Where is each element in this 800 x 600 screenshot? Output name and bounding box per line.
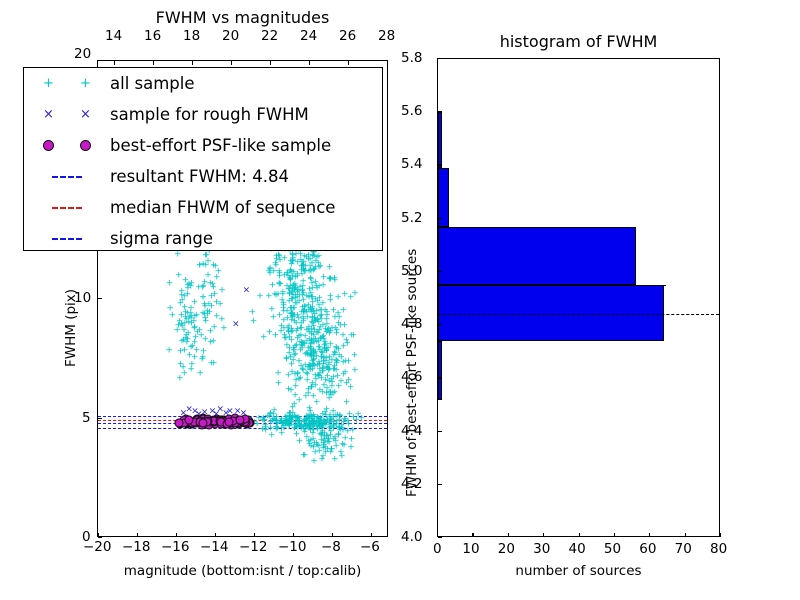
histogram-x-tick-label: 80 [710, 541, 727, 557]
scatter-point-all-sample: + [302, 370, 310, 379]
scatter-point-all-sample: + [188, 279, 196, 288]
scatter-point-all-sample: + [339, 331, 347, 340]
scatter-point-all-sample: + [306, 263, 314, 272]
scatter-point-all-sample: + [308, 308, 316, 317]
scatter-point-all-sample: + [296, 338, 304, 347]
scatter-point-all-sample: + [290, 346, 298, 355]
scatter-point-all-sample: + [298, 339, 306, 348]
scatter-point-all-sample: + [295, 397, 303, 406]
scatter-point-all-sample: + [300, 297, 308, 306]
scatter-point-all-sample: + [307, 384, 315, 393]
scatter-point-all-sample: + [308, 294, 316, 303]
scatter-point-all-sample: + [305, 324, 313, 333]
scatter-point-all-sample: + [292, 295, 300, 304]
scatter-point-all-sample: + [188, 320, 196, 329]
scatter-point-all-sample: + [308, 279, 316, 288]
scatter-point-all-sample: + [298, 345, 306, 354]
histogram-x-tick [472, 533, 473, 537]
scatter-point-all-sample: + [199, 294, 207, 303]
scatter-point-all-sample: + [308, 259, 316, 268]
scatter-point-all-sample: + [318, 375, 326, 384]
scatter-point-all-sample: + [307, 352, 315, 361]
scatter-point-all-sample: + [298, 266, 306, 275]
scatter-point-all-sample: + [309, 436, 317, 445]
scatter-point-all-sample: + [278, 297, 286, 306]
scatter-point-all-sample: + [319, 281, 327, 290]
sigma-lower-line [98, 428, 387, 429]
scatter-point-all-sample: + [289, 403, 297, 412]
scatter-point-all-sample: + [300, 259, 308, 268]
scatter-point-all-sample: + [333, 329, 341, 338]
scatter-point-all-sample: + [291, 311, 299, 320]
scatter-point-all-sample: + [299, 304, 307, 313]
histogram-y-tick [438, 271, 442, 272]
scatter-point-all-sample: + [332, 356, 340, 365]
scatter-point-all-sample: + [301, 350, 309, 359]
scatter-point-all-sample: + [295, 413, 303, 422]
scatter-point-all-sample: + [307, 340, 315, 349]
scatter-point-all-sample: + [308, 345, 316, 354]
scatter-point-all-sample: + [325, 394, 333, 403]
histogram-y-tick [438, 111, 442, 112]
scatter-point-all-sample: + [332, 443, 340, 452]
scatter-point-all-sample: + [178, 287, 186, 296]
scatter-point-all-sample: + [316, 369, 324, 378]
scatter-point-all-sample: + [316, 307, 324, 316]
scatter-point-all-sample: + [331, 388, 339, 397]
scatter-point-all-sample: + [316, 431, 324, 440]
scatter-point-all-sample: + [306, 336, 314, 345]
scatter-point-all-sample: + [309, 413, 317, 422]
dashed-red-line-icon [52, 207, 82, 209]
scatter-point-all-sample: + [294, 334, 302, 343]
scatter-point-all-sample: + [344, 339, 352, 348]
scatter-point-all-sample: + [288, 305, 296, 314]
scatter-point-all-sample: + [316, 346, 324, 355]
scatter-point-all-sample: + [318, 422, 326, 431]
scatter-point-all-sample: + [294, 286, 302, 295]
scatter-point-all-sample: + [316, 387, 324, 396]
scatter-point-all-sample: + [307, 307, 315, 316]
scatter-point-all-sample: + [310, 457, 318, 466]
scatter-point-all-sample: + [310, 332, 318, 341]
scatter-point-all-sample: + [185, 313, 193, 322]
scatter-point-all-sample: + [332, 437, 340, 446]
scatter-point-all-sample: + [289, 292, 297, 301]
scatter-point-all-sample: + [310, 346, 318, 355]
scatter-point-all-sample: + [320, 335, 328, 344]
legend-label: sample for rough FWHM [110, 105, 309, 124]
scatter-point-all-sample: + [288, 361, 296, 370]
scatter-point-all-sample: + [332, 324, 340, 333]
dashdot-blue-line-icon [52, 238, 82, 240]
scatter-point-all-sample: + [220, 324, 228, 333]
scatter-point-all-sample: + [319, 334, 327, 343]
scatter-point-all-sample: + [307, 363, 315, 372]
scatter-point-all-sample: + [340, 371, 348, 380]
scatter-point-all-sample: + [310, 443, 318, 452]
scatter-point-all-sample: + [310, 339, 318, 348]
scatter-point-all-sample: + [199, 293, 207, 302]
scatter-point-all-sample: + [290, 282, 298, 291]
scatter-point-all-sample: + [289, 312, 297, 321]
scatter-point-all-sample: + [295, 357, 303, 366]
scatter-point-all-sample: + [297, 363, 305, 372]
scatter-point-all-sample: + [327, 388, 335, 397]
scatter-point-all-sample: + [204, 257, 212, 266]
scatter-point-all-sample: + [340, 342, 348, 351]
scatter-point-all-sample: + [272, 259, 280, 268]
scatter-point-all-sample: + [311, 349, 319, 358]
scatter-point-all-sample: + [269, 281, 277, 290]
scatter-point-all-sample: + [291, 371, 299, 380]
scatter-point-all-sample: + [177, 360, 185, 369]
scatter-point-all-sample: + [318, 349, 326, 358]
scatter-point-all-sample: + [285, 371, 293, 380]
scatter-point-all-sample: + [306, 348, 314, 357]
scatter-point-all-sample: + [331, 362, 339, 371]
scatter-point-all-sample: + [320, 358, 328, 367]
scatter-point-all-sample: + [199, 310, 207, 319]
scatter-point-all-sample: + [187, 309, 195, 318]
scatter-point-all-sample: + [323, 321, 331, 330]
scatter-point-all-sample: + [285, 286, 293, 295]
scatter-point-all-sample: + [256, 292, 264, 301]
scatter-point-all-sample: + [276, 312, 284, 321]
scatter-point-all-sample: + [298, 270, 306, 279]
scatter-point-all-sample: + [306, 423, 314, 432]
histogram-x-tick [579, 533, 580, 537]
scatter-point-all-sample: + [292, 291, 300, 300]
scatter-point-all-sample: + [208, 292, 216, 301]
scatter-point-all-sample: + [261, 416, 269, 425]
scatter-point-all-sample: + [305, 325, 313, 334]
scatter-point-all-sample: + [315, 319, 323, 328]
scatter-point-all-sample: + [205, 300, 213, 309]
scatter-point-all-sample: + [318, 354, 326, 363]
scatter-point-all-sample: + [283, 342, 291, 351]
scatter-point-all-sample: + [300, 426, 308, 435]
scatter-point-all-sample: + [191, 299, 199, 308]
scatter-point-all-sample: + [323, 348, 331, 357]
scatter-point-all-sample: + [339, 359, 347, 368]
scatter-point-all-sample: + [316, 343, 324, 352]
scatter-point-all-sample: + [291, 318, 299, 327]
scatter-point-all-sample: + [287, 386, 295, 395]
scatter-point-all-sample: + [287, 282, 295, 291]
scatter-point-all-sample: + [301, 308, 309, 317]
scatter-point-all-sample: + [300, 308, 308, 317]
scatter-point-all-sample: + [314, 329, 322, 338]
scatter-point-all-sample: + [348, 435, 356, 444]
scatter-point-all-sample: + [323, 417, 331, 426]
scatter-point-all-sample: + [325, 438, 333, 447]
scatter-point-all-sample: + [347, 383, 355, 392]
scatter-point-all-sample: + [319, 365, 327, 374]
scatter-point-all-sample: + [294, 271, 302, 280]
scatter-point-all-sample: + [185, 281, 193, 290]
scatter-point-all-sample: + [329, 390, 337, 399]
legend-marker-sigma-range [24, 238, 110, 240]
scatter-point-all-sample: + [323, 315, 331, 324]
scatter-point-all-sample: + [200, 347, 208, 356]
scatter-point-all-sample: + [331, 276, 339, 285]
scatter-point-psf-like [185, 415, 194, 424]
scatter-point-all-sample: + [193, 312, 201, 321]
scatter-point-all-sample: + [207, 360, 215, 369]
scatter-point-all-sample: + [330, 307, 338, 316]
bottom-tick-label: −14 [200, 539, 229, 555]
top-tick-label: 26 [339, 28, 356, 44]
histogram-y-tick [438, 377, 442, 378]
legend-item[interactable]: resultant FWHM: 4.84 [24, 161, 382, 192]
scatter-point-all-sample: + [200, 282, 208, 291]
scatter-point-all-sample: + [337, 448, 345, 457]
scatter-point-all-sample: + [313, 254, 321, 263]
right-panel-title: histogram of FWHM [437, 32, 720, 51]
scatter-point-all-sample: + [294, 371, 302, 380]
scatter-point-all-sample: + [323, 364, 331, 373]
scatter-point-all-sample: + [331, 456, 339, 465]
scatter-point-all-sample: + [309, 420, 317, 429]
scatter-point-all-sample: + [333, 326, 341, 335]
scatter-point-all-sample: + [332, 367, 340, 376]
bottom-tick-label: −16 [161, 539, 190, 555]
scatter-point-all-sample: + [335, 431, 343, 440]
left-panel-title: FWHM vs magnitudes [97, 8, 388, 27]
scatter-point-all-sample: + [191, 354, 199, 363]
scatter-point-all-sample: + [281, 255, 289, 264]
scatter-point-all-sample: + [290, 347, 298, 356]
scatter-point-all-sample: + [277, 328, 285, 337]
histogram-x-tick [685, 533, 686, 537]
scatter-point-all-sample: + [289, 309, 297, 318]
scatter-point-all-sample: + [315, 343, 323, 352]
scatter-point-all-sample: + [289, 413, 297, 422]
scatter-point-all-sample: + [283, 283, 291, 292]
scatter-point-all-sample: + [301, 303, 309, 312]
scatter-point-all-sample: + [304, 344, 312, 353]
scatter-point-all-sample: + [303, 308, 311, 317]
scatter-point-all-sample: + [168, 312, 176, 321]
scatter-point-all-sample: + [286, 289, 294, 298]
scatter-point-all-sample: + [301, 253, 309, 262]
scatter-point-all-sample: + [303, 313, 311, 322]
scatter-point-all-sample: + [314, 297, 322, 306]
scatter-point-all-sample: + [308, 379, 316, 388]
scatter-point-all-sample: + [305, 292, 313, 301]
scatter-point-all-sample: + [196, 370, 204, 379]
histogram-y-tick [438, 431, 442, 432]
scatter-point-all-sample: + [196, 327, 204, 336]
legend-marker-psf-sample [24, 140, 110, 151]
scatter-point-all-sample: + [276, 256, 284, 265]
legend-marker-rough-sample: × × [24, 108, 110, 121]
scatter-point-all-sample: + [176, 375, 184, 384]
scatter-point-all-sample: + [274, 290, 282, 299]
scatter-point-all-sample: + [280, 301, 288, 310]
scatter-point-all-sample: + [323, 384, 331, 393]
scatter-point-all-sample: + [293, 328, 301, 337]
scatter-point-all-sample: + [289, 285, 297, 294]
scatter-point-all-sample: + [317, 436, 325, 445]
legend-item[interactable]: median FHWM of sequence [24, 192, 382, 223]
scatter-point-all-sample: + [191, 323, 199, 332]
scatter-point-all-sample: + [267, 410, 275, 419]
scatter-point-all-sample: + [177, 347, 185, 356]
scatter-point-all-sample: + [294, 272, 302, 281]
scatter-point-all-sample: + [291, 282, 299, 291]
scatter-point-all-sample: + [276, 269, 284, 278]
scatter-point-all-sample: + [285, 328, 293, 337]
histogram-y-tick-label: 5.4 [401, 156, 422, 172]
scatter-point-all-sample: + [192, 334, 200, 343]
legend-item[interactable]: sigma range [24, 223, 382, 254]
scatter-point-all-sample: + [328, 446, 336, 455]
scatter-point-all-sample: + [287, 277, 295, 286]
scatter-point-all-sample: + [301, 428, 309, 437]
scatter-point-all-sample: + [184, 281, 192, 290]
scatter-point-all-sample: + [303, 338, 311, 347]
scatter-point-all-sample: + [331, 349, 339, 358]
scatter-point-all-sample: + [319, 452, 327, 461]
scatter-point-all-sample: + [316, 366, 324, 375]
scatter-point-all-sample: + [328, 325, 336, 334]
scatter-point-all-sample: + [293, 294, 301, 303]
scatter-point-all-sample: + [287, 275, 295, 284]
scatter-point-all-sample: + [299, 313, 307, 322]
scatter-point-all-sample: + [290, 401, 298, 410]
scatter-point-all-sample: + [305, 437, 313, 446]
scatter-point-all-sample: + [289, 356, 297, 365]
scatter-point-all-sample: + [196, 262, 204, 271]
legend-label: best-effort PSF-like sample [110, 136, 331, 155]
scatter-point-all-sample: + [309, 348, 317, 357]
scatter-point-all-sample: + [306, 417, 314, 426]
scatter-point-all-sample: + [323, 311, 331, 320]
histogram-x-tick [543, 533, 544, 537]
scatter-point-all-sample: + [299, 367, 307, 376]
top-tick-label: 22 [261, 28, 278, 44]
scatter-point-all-sample: + [286, 290, 294, 299]
scatter-point-all-sample: + [185, 319, 193, 328]
scatter-point-all-sample: + [285, 323, 293, 332]
scatter-point-all-sample: + [292, 320, 300, 329]
scatter-point-all-sample: + [182, 332, 190, 341]
scatter-point-all-sample: + [277, 280, 285, 289]
scatter-point-all-sample: + [295, 315, 303, 324]
scatter-point-all-sample: + [294, 326, 302, 335]
scatter-point-all-sample: + [332, 344, 340, 353]
scatter-point-all-sample: + [309, 365, 317, 374]
scatter-point-all-sample: + [311, 314, 319, 323]
scatter-point-all-sample: + [286, 422, 294, 431]
scatter-point-all-sample: + [302, 267, 310, 276]
legend-label: median FHWM of sequence [110, 198, 335, 217]
scatter-point-all-sample: + [331, 366, 339, 375]
legend-item[interactable]: best-effort PSF-like sample [24, 130, 382, 161]
top-tick-label: 24 [300, 28, 317, 44]
scatter-point-all-sample: + [307, 384, 315, 393]
circle-icon [43, 140, 54, 151]
scatter-point-all-sample: + [296, 375, 304, 384]
scatter-point-all-sample: + [295, 332, 303, 341]
scatter-point-all-sample: + [181, 346, 189, 355]
scatter-point-all-sample: + [303, 377, 311, 386]
scatter-point-all-sample: + [182, 334, 190, 343]
histogram-y-tick [438, 218, 442, 219]
scatter-point-all-sample: + [287, 267, 295, 276]
scatter-point-all-sample: + [266, 266, 274, 275]
scatter-point-all-sample: + [298, 341, 306, 350]
legend-item[interactable]: × × sample for rough FWHM [24, 99, 382, 130]
scatter-point-all-sample: + [280, 422, 288, 431]
scatter-point-all-sample: + [274, 369, 282, 378]
scatter-point-all-sample: + [320, 354, 328, 363]
scatter-point-all-sample: + [310, 308, 318, 317]
scatter-point-all-sample: + [207, 280, 215, 289]
scatter-point-all-sample: + [289, 257, 297, 266]
scatter-point-all-sample: + [351, 289, 359, 298]
legend-item[interactable]: + + all sample [24, 68, 382, 99]
scatter-point-all-sample: + [320, 381, 328, 390]
scatter-point-all-sample: + [308, 306, 316, 315]
scatter-point-all-sample: + [311, 439, 319, 448]
scatter-point-all-sample: + [315, 358, 323, 367]
scatter-point-all-sample: + [324, 364, 332, 373]
scatter-point-all-sample: + [297, 324, 305, 333]
scatter-point-all-sample: + [330, 365, 338, 374]
histogram-y-tick [438, 58, 442, 59]
scatter-point-all-sample: + [318, 456, 326, 465]
scatter-point-all-sample: + [287, 410, 295, 419]
scatter-point-all-sample: + [313, 440, 321, 449]
scatter-point-all-sample: + [289, 273, 297, 282]
scatter-point-all-sample: + [275, 280, 283, 289]
scatter-point-all-sample: + [189, 343, 197, 352]
scatter-point-all-sample: + [265, 293, 273, 302]
scatter-point-all-sample: + [325, 436, 333, 445]
scatter-point-all-sample: + [197, 331, 205, 340]
scatter-point-all-sample: + [333, 357, 341, 366]
scatter-point-all-sample: + [283, 354, 291, 363]
scatter-point-all-sample: + [321, 345, 329, 354]
scatter-point-all-sample: + [305, 404, 313, 413]
scatter-point-all-sample: + [310, 338, 318, 347]
scatter-point-all-sample: + [325, 436, 333, 445]
scatter-point-all-sample: + [300, 318, 308, 327]
scatter-point-all-sample: + [190, 324, 198, 333]
scatter-point-all-sample: + [287, 305, 295, 314]
histogram-y-tick-label: 5.8 [401, 50, 422, 66]
scatter-point-all-sample: + [306, 286, 314, 295]
scatter-point-all-sample: + [339, 441, 347, 450]
scatter-point-all-sample: + [303, 254, 311, 263]
y-tick-label: 0 [82, 529, 91, 545]
scatter-point-all-sample: + [281, 332, 289, 341]
scatter-point-all-sample: + [328, 356, 336, 365]
top-tick-label: 14 [105, 28, 122, 44]
scatter-point-all-sample: + [306, 367, 314, 376]
scatter-point-all-sample: + [305, 362, 313, 371]
scatter-point-all-sample: + [304, 364, 312, 373]
scatter-point-all-sample: + [321, 341, 329, 350]
scatter-point-all-sample: + [319, 365, 327, 374]
scatter-point-all-sample: + [213, 273, 221, 282]
scatter-point-all-sample: + [312, 348, 320, 357]
scatter-point-all-sample: + [319, 367, 327, 376]
scatter-point-all-sample: + [323, 308, 331, 317]
